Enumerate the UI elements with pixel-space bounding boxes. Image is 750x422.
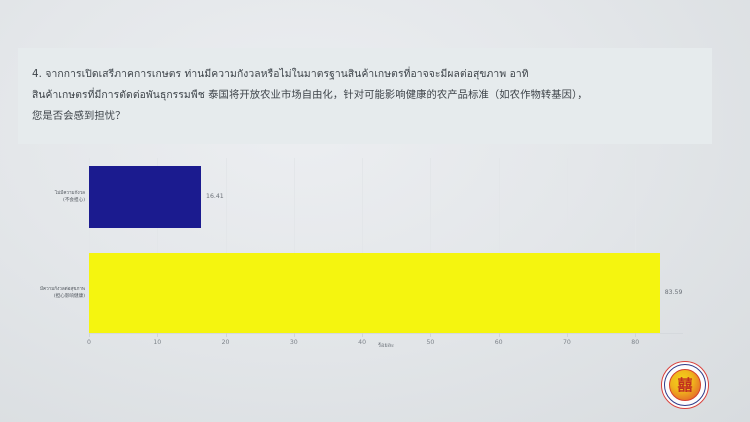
question-line-2: สินค้าเกษตรที่มีการตัดต่อพันธุกรรมพืช 泰国… (32, 85, 698, 106)
category-label: มีความกังวลต่อสุขภาพ(担心影响健康) (5, 286, 85, 300)
tick-mark (89, 333, 90, 337)
category-label-secondary: (不会担心) (5, 197, 85, 204)
x-tick-label: 60 (495, 339, 503, 346)
tick-mark (499, 333, 500, 337)
question-panel: 4. จากการเปิดเสรีภาคการเกษตร ท่านมีความก… (18, 48, 712, 144)
category-label-secondary: (担心影响健康) (5, 293, 85, 300)
tick-mark (430, 333, 431, 337)
x-tick-label: 10 (153, 339, 161, 346)
x-axis-title: ร้อยละ (378, 342, 394, 350)
bar-value-label: 83.59 (665, 289, 683, 296)
x-axis-line (89, 333, 683, 334)
x-tick-label: 0 (87, 339, 91, 346)
bar[interactable] (89, 253, 660, 333)
bar-chart: 01020304050607080 16.4183.59 ไม่มีความกั… (0, 148, 750, 368)
tick-mark (294, 333, 295, 337)
x-tick-label: 40 (358, 339, 366, 346)
x-tick-label: 20 (222, 339, 230, 346)
category-label: ไม่มีความกังวล(不会担心) (5, 190, 85, 204)
tick-mark (567, 333, 568, 337)
bar-value-label: 16.41 (206, 193, 224, 200)
x-tick-label: 80 (631, 339, 639, 346)
x-tick-label: 50 (426, 339, 434, 346)
tick-mark (226, 333, 227, 337)
question-line-1: 4. จากการเปิดเสรีภาคการเกษตร ท่านมีความก… (32, 64, 698, 85)
question-line-3: 您是否会感到担忧？ (32, 106, 698, 127)
x-tick-label: 70 (563, 339, 571, 346)
category-label-primary: ไม่มีความกังวล (5, 190, 85, 197)
slide-canvas: 4. จากการเปิดเสรีภาคการเกษตร ท่านมีความก… (0, 0, 750, 422)
tick-mark (362, 333, 363, 337)
organization-emblem-icon: 囍 (661, 361, 709, 409)
bar[interactable] (89, 166, 201, 228)
tick-mark (157, 333, 158, 337)
x-tick-label: 30 (290, 339, 298, 346)
tick-mark (635, 333, 636, 337)
emblem-disc: 囍 (669, 369, 701, 401)
category-label-primary: มีความกังวลต่อสุขภาพ (5, 286, 85, 293)
emblem-glyph: 囍 (677, 378, 692, 393)
